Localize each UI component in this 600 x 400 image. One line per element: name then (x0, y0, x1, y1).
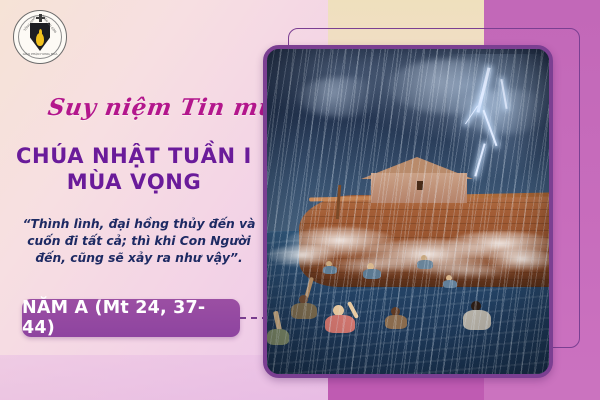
diocese-emblem-icon: TỔNG GIÁO PHẬN SÀI GÒN GIÁO PHẬN HƯNG HO… (13, 10, 67, 64)
vignette-overlay (267, 49, 549, 374)
emblem-text-right: PHẬN SÀI GÒN (41, 14, 58, 34)
page-title-line1: CHÚA NHẬT TUẦN I (16, 144, 252, 168)
page-title-line2: MÙA VỌNG (0, 169, 268, 195)
page-title: CHÚA NHẬT TUẦN I MÙA VỌNG (0, 143, 268, 195)
year-reference-badge: NĂM A (Mt 24, 37- 44) (22, 299, 240, 337)
scripture-quote: “Thình lình, đại hồng thủy đến và cuốn đ… (14, 216, 264, 267)
poster-canvas: TỔNG GIÁO PHẬN SÀI GÒN GIÁO PHẬN HƯNG HO… (0, 0, 600, 400)
emblem-text-left: TỔNG GIÁO (23, 16, 37, 32)
noahs-ark-illustration (267, 49, 549, 374)
emblem-ring-text: TỔNG GIÁO PHẬN SÀI GÒN GIÁO PHẬN HƯNG HO… (13, 10, 67, 64)
emblem-text-bottom: GIÁO PHẬN HƯNG HOÁ (20, 52, 60, 56)
year-reference-label: NĂM A (Mt 24, 37- 44) (22, 298, 240, 338)
illustration-frame (263, 45, 553, 378)
